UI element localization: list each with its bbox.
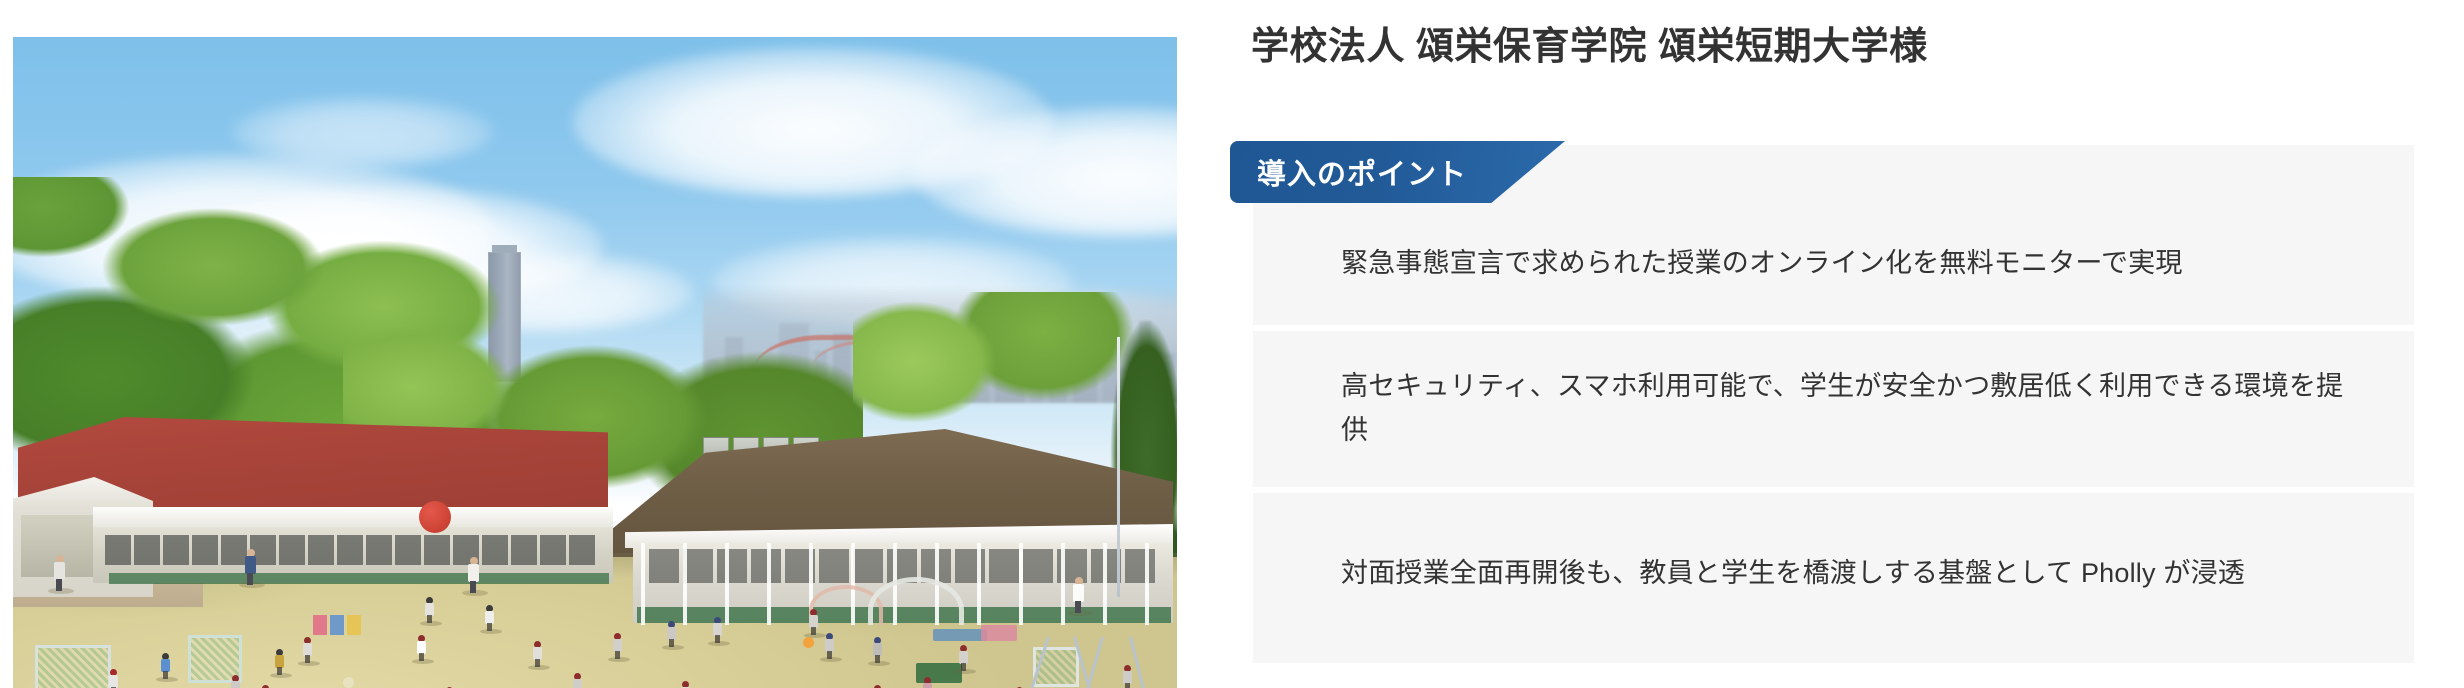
child-figure [873, 637, 882, 663]
child-figure [959, 645, 968, 671]
page-root: 学校法人 頌栄保育学院 頌栄短期大学様 導入のポイント 緊急事態宣言で求められた… [0, 0, 2464, 688]
flag-pole [1117, 337, 1120, 597]
case-study-content: 学校法人 頌栄保育学院 頌栄短期大学様 導入のポイント 緊急事態宣言で求められた… [1230, 0, 2464, 688]
child-figure [303, 637, 312, 663]
cloud-shape [233, 97, 493, 167]
child-figure [533, 641, 542, 667]
play-ball-red [419, 501, 451, 533]
child-figure [681, 681, 690, 688]
page-title: 学校法人 頌栄保育学院 頌栄短期大学様 [1251, 22, 1928, 73]
child-figure [425, 597, 434, 623]
points-ribbon-label: 導入のポイント [1257, 151, 1467, 193]
adult-figure [54, 555, 65, 591]
adult-figure [468, 557, 479, 593]
swing-set [1043, 637, 1153, 688]
child-figure [713, 617, 722, 643]
child-figure [667, 621, 676, 647]
case-study-photo [13, 37, 1177, 688]
points-list: 緊急事態宣言で求められた授業のオンライン化を無料モニターで実現 高セキュリティ、… [1253, 203, 2414, 655]
point-text: 緊急事態宣言で求められた授業のオンライン化を無料モニターで実現 [1341, 242, 2183, 286]
ball [803, 637, 814, 648]
red-building-eave [93, 507, 613, 529]
play-mat-blue [933, 629, 987, 641]
child-figure [161, 653, 170, 679]
ball [343, 677, 354, 688]
child-figure [923, 677, 932, 688]
list-item: 緊急事態宣言で求められた授業のオンライン化を無料モニターで実現 [1253, 203, 2414, 331]
adult-figure [1073, 577, 1084, 613]
child-figure [417, 635, 426, 661]
point-text: 高セキュリティ、スマホ利用可能で、学生が安全かつ敷居低く利用できる環境を提供 [1341, 365, 2354, 452]
play-mat-pink [981, 625, 1017, 641]
soccer-goal-left [35, 645, 111, 688]
child-figure [275, 649, 284, 675]
child-figure [109, 669, 118, 688]
point-text: 対面授業全面再開後も、教員と学生を橋渡しする基盤として Pholly が浸透 [1341, 552, 2245, 596]
child-figure [809, 609, 818, 635]
child-figure [231, 675, 240, 688]
list-item: 高セキュリティ、スマホ利用可能で、学生が安全かつ敷居低く利用できる環境を提供 [1253, 331, 2414, 493]
child-figure [825, 633, 834, 659]
child-figure [1123, 665, 1132, 688]
red-building-base [109, 573, 609, 584]
child-figure [573, 673, 582, 688]
child-figure [485, 605, 494, 631]
photo-canvas [13, 37, 1177, 688]
child-figure [613, 633, 622, 659]
adult-figure [245, 549, 256, 585]
list-item: 対面授業全面再開後も、教員と学生を橋渡しする基盤として Pholly が浸透 [1253, 493, 2414, 655]
field-flags [313, 615, 361, 637]
red-building-windows [105, 535, 605, 569]
